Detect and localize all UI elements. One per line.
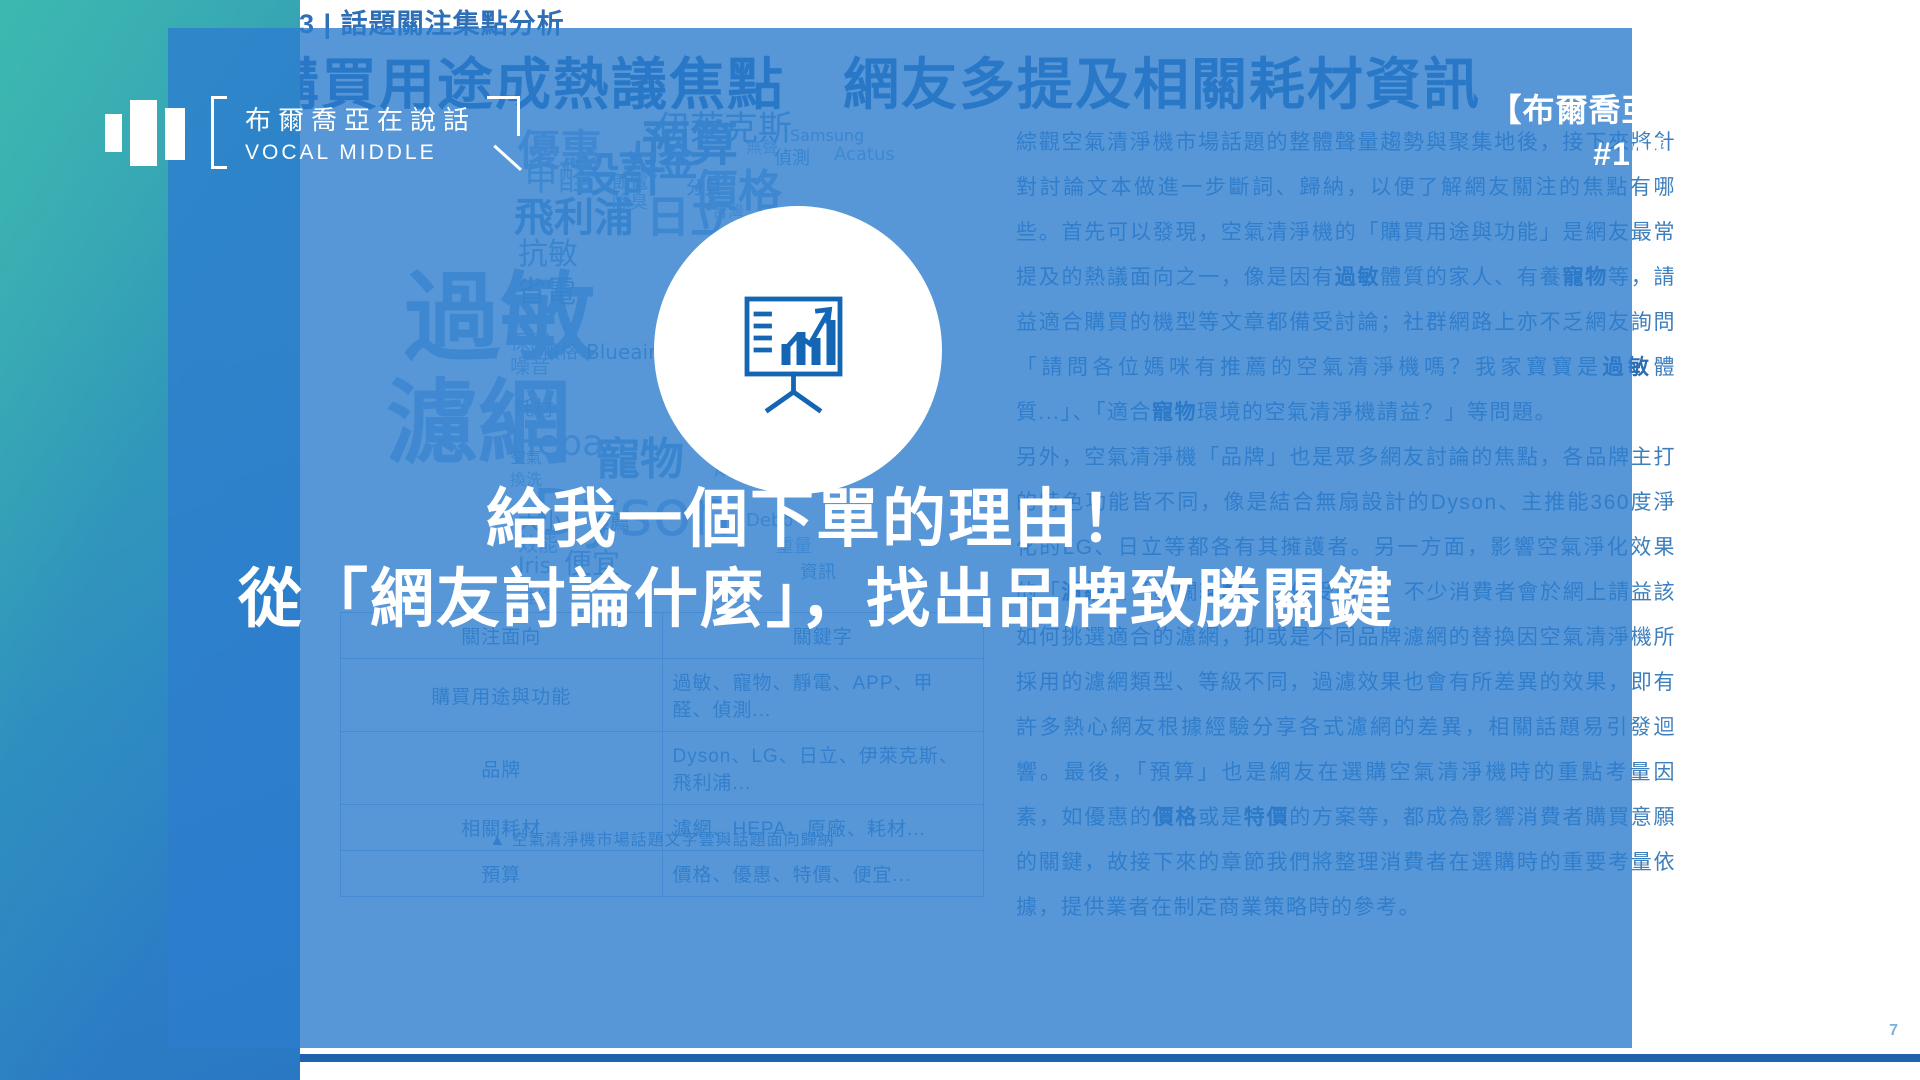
- issue-tag-line1: 【布爾喬亞產業搜查: [1428, 88, 1848, 132]
- brand-name-cn: 布爾喬亞在說話: [245, 100, 476, 137]
- bracket-right-icon: [490, 96, 520, 169]
- vocal-middle-mark-icon: [105, 100, 197, 166]
- issue-tag-line2: #10】: [1428, 132, 1848, 176]
- bracket-left-icon: [211, 96, 227, 169]
- headline-line-1: 給我一個下單的理由！: [0, 480, 1632, 558]
- headline: 給我一個下單的理由！ 從「網友討論什麼」，找出品牌致勝關鍵: [0, 480, 1632, 640]
- brand-name-block: 布爾喬亞在說話 VOCAL MIDDLE: [211, 96, 520, 169]
- issue-tag: 【布爾喬亞產業搜查 #10】: [1428, 88, 1848, 176]
- slide-footer-bar: [168, 1054, 1920, 1062]
- headline-line-2: 從「網友討論什麼」，找出品牌致勝關鍵: [0, 558, 1632, 640]
- page-number: 7: [1889, 1022, 1898, 1040]
- chart-presentation-icon: [723, 275, 873, 425]
- chart-icon-badge: [654, 206, 942, 494]
- brand-logo: 布爾喬亞在說話 VOCAL MIDDLE: [105, 96, 520, 169]
- slide-canvas: 1-3 | 話題關注集點分析 購買用途成熱議焦點 網友多提及相關耗材資訊 過敏濾…: [0, 0, 1920, 1080]
- brand-name-en: VOCAL MIDDLE: [245, 141, 476, 165]
